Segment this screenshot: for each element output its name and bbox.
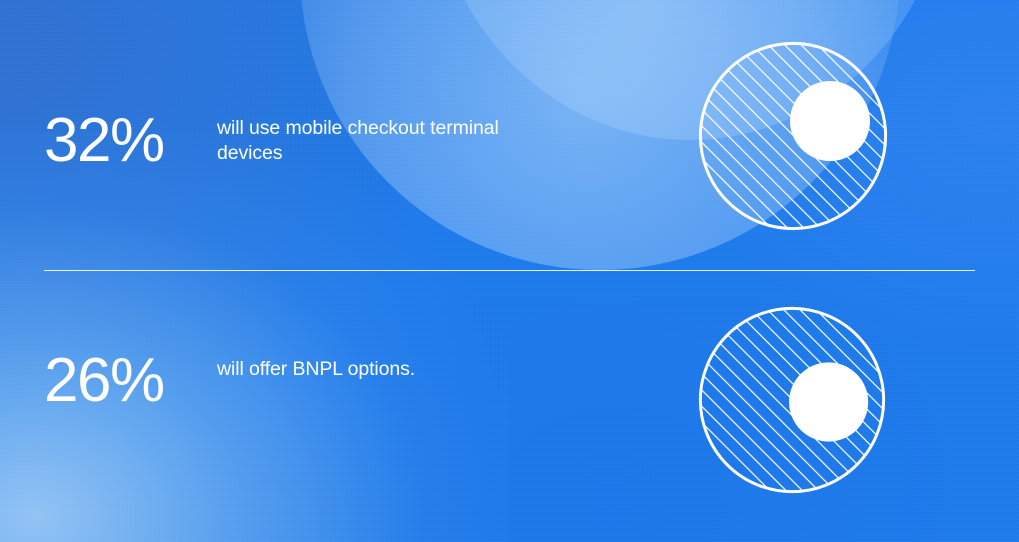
stat-description: will use mobile checkout terminal device… <box>217 116 547 166</box>
stat-slide: 32% will use mobile checkout terminal de… <box>0 0 1019 542</box>
hatched-circle-with-dot-icon <box>697 305 887 495</box>
hatched-circle-with-dot-icon <box>697 40 889 232</box>
stat-percentage: 26% <box>44 350 164 412</box>
stat-percentage: 32% <box>44 110 164 172</box>
stat-description: will offer BNPL options. <box>217 357 547 382</box>
